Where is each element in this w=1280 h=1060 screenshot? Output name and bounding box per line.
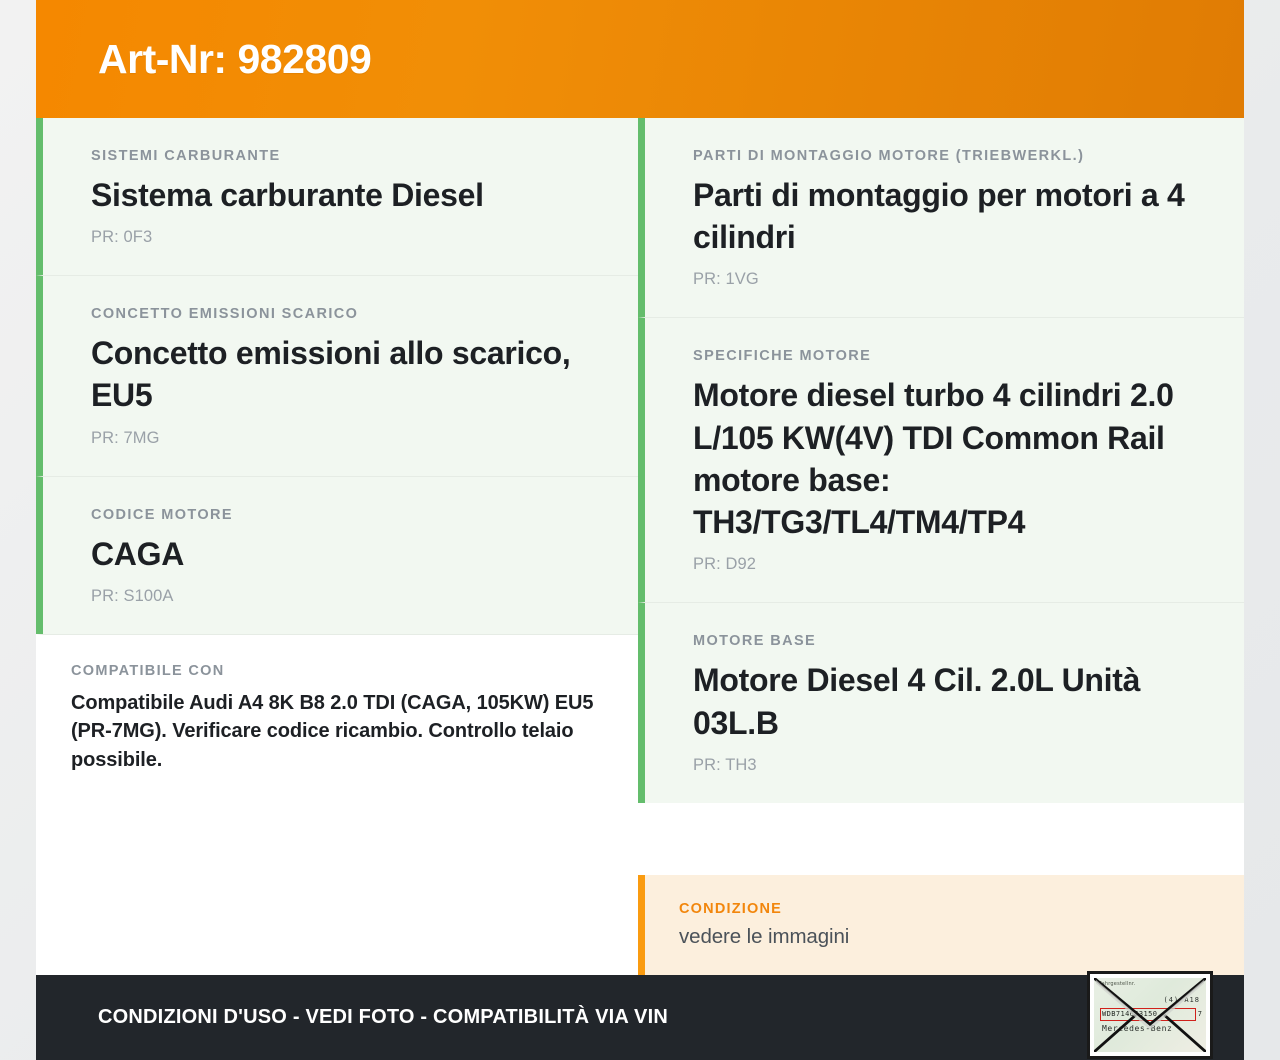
card-pr-code: PR: 1VG xyxy=(693,270,1200,289)
card-label: SPECIFICHE MOTORE xyxy=(693,348,1200,364)
card-title: Motore diesel turbo 4 cilindri 2.0 L/105… xyxy=(693,374,1200,543)
vin-number: WDB7146J3150 xyxy=(1102,1010,1157,1018)
spec-card-fuel-system[interactable]: SISTEMI CARBURANTE Sistema carburante Di… xyxy=(36,118,638,275)
spec-card-engine-code[interactable]: CODICE MOTORE CAGA PR: S100A xyxy=(36,476,638,634)
card-title: Concetto emissioni allo scarico, EU5 xyxy=(91,332,594,416)
condition-label: CONDIZIONE xyxy=(679,901,1200,917)
vehicle-make: Mercedes-Benz xyxy=(1102,1024,1172,1033)
spec-card-engine-specifications[interactable]: SPECIFICHE MOTORE Motore diesel turbo 4 … xyxy=(638,317,1244,602)
document-code: (4) A18 xyxy=(1163,996,1200,1004)
card-pr-code: PR: 0F3 xyxy=(91,228,594,247)
footer-bar: CONDIZIONI D'USO - VEDI FOTO - COMPATIBI… xyxy=(36,975,1244,1060)
left-column: SISTEMI CARBURANTE Sistema carburante Di… xyxy=(36,118,638,975)
card-pr-code: PR: D92 xyxy=(693,555,1200,574)
vin-tail-digit: 7 xyxy=(1198,1010,1202,1018)
listing-page: Art-Nr: 982809 SISTEMI CARBURANTE Sistem… xyxy=(0,0,1280,1060)
card-label: PARTI DI MONTAGGIO MOTORE (TRIEBWERKL.) xyxy=(693,148,1200,164)
header-bar: Art-Nr: 982809 xyxy=(36,0,1244,118)
card-title: Parti di montaggio per motori a 4 cilind… xyxy=(693,174,1200,258)
footer-text: CONDIZIONI D'USO - VEDI FOTO - COMPATIBI… xyxy=(98,1006,668,1029)
card-pr-code: PR: 7MG xyxy=(91,429,594,448)
article-number-title: Art-Nr: 982809 xyxy=(98,36,371,83)
right-column: PARTI DI MONTAGGIO MOTORE (TRIEBWERKL.) … xyxy=(638,118,1244,975)
spec-card-compatibility[interactable]: COMPATIBILE CON Compatibile Audi A4 8K B… xyxy=(36,634,638,800)
card-pr-code: PR: S100A xyxy=(91,587,594,606)
left-column-spacer xyxy=(36,800,638,975)
card-title: CAGA xyxy=(91,533,594,575)
right-column-spacer xyxy=(638,803,1244,875)
fahrgestellnr-label: Fahrgestellnr. xyxy=(1099,981,1135,987)
condition-card[interactable]: CONDIZIONE vedere le immagini xyxy=(638,875,1244,975)
card-title: Sistema carburante Diesel xyxy=(91,174,594,216)
vin-envelope-badge[interactable]: Fahrgestellnr. (4) A18 WDB7146J3150 7 Me… xyxy=(1087,971,1213,1059)
spec-card-base-engine[interactable]: MOTORE BASE Motore Diesel 4 Cil. 2.0L Un… xyxy=(638,602,1244,802)
card-title: Motore Diesel 4 Cil. 2.0L Unità 03L.B xyxy=(693,659,1200,743)
card-label: CONCETTO EMISSIONI SCARICO xyxy=(91,306,594,322)
spec-card-emissions-concept[interactable]: CONCETTO EMISSIONI SCARICO Concetto emis… xyxy=(36,275,638,475)
card-label: COMPATIBILE CON xyxy=(71,663,598,679)
vehicle-registration-document: Fahrgestellnr. (4) A18 WDB7146J3150 7 Me… xyxy=(1094,978,1206,1052)
card-label: CODICE MOTORE xyxy=(91,507,594,523)
card-label: MOTORE BASE xyxy=(693,633,1200,649)
card-pr-code: PR: TH3 xyxy=(693,756,1200,775)
spec-card-engine-mounting-parts[interactable]: PARTI DI MONTAGGIO MOTORE (TRIEBWERKL.) … xyxy=(638,118,1244,317)
card-label: SISTEMI CARBURANTE xyxy=(91,148,594,164)
condition-value: vedere le immagini xyxy=(679,925,1200,949)
compatibility-text: Compatibile Audi A4 8K B8 2.0 TDI (CAGA,… xyxy=(71,689,598,774)
